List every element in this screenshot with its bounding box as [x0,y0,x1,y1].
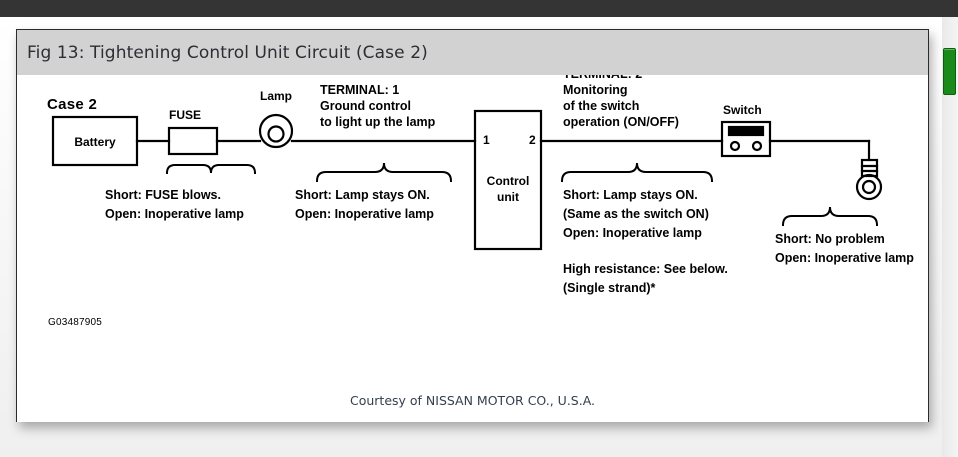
terminal2-line4: operation (ON/OFF) [563,115,679,130]
terminal1-line2: Ground control [320,99,411,114]
figure-body: Battery Control unit Case 2 FUSE Lamp 1 … [17,75,928,422]
battery-label: Battery [74,135,116,149]
brace-lamp [317,163,451,181]
fuse-note-line2: Open: Inoperative lamp [105,207,244,222]
switch-note-line1: Short: Lamp stays ON. [563,188,698,203]
fuse-symbol [169,128,217,154]
figure-image-id: G03487905 [48,315,102,330]
terminal2-line3: of the switch [563,99,639,114]
browser-top-bar [0,0,958,17]
resistance-note-line1: High resistance: See below. [563,262,728,277]
lamp-label: Lamp [260,89,292,104]
figure-panel: Fig 13: Tightening Control Unit Circuit … [16,29,929,422]
ground-note-line2: Open: Inoperative lamp [775,251,914,266]
switch-label: Switch [723,103,762,118]
terminal2-line2: Monitoring [563,83,628,98]
control-unit-terminal-1-label: 1 [483,133,490,148]
vertical-scrollbar-track[interactable] [942,17,958,457]
control-unit-terminal-2-label: 2 [529,133,536,148]
terminal1-line3: to light up the lamp [320,115,435,130]
fuse-label: FUSE [169,108,201,123]
lamp-note-line1: Short: Lamp stays ON. [295,188,430,203]
terminal1-heading: TERMINAL: 1 [320,83,399,98]
figure-courtesy-footer: Courtesy of NISSAN MOTOR CO., U.S.A. [17,393,928,408]
switch-note-line3: Open: Inoperative lamp [563,226,702,241]
circuit-schematic-svg: Battery Control unit [17,75,928,385]
ground-symbol [862,160,877,176]
lamp-note-line2: Open: Inoperative lamp [295,207,434,222]
figure-titlebar: Fig 13: Tightening Control Unit Circuit … [17,30,928,75]
ground-note-line1: Short: No problem [775,232,885,247]
fuse-note-line1: Short: FUSE blows. [105,188,221,203]
control-unit-label-line2: unit [497,190,519,204]
resistance-note-line2: (Single strand)* [563,281,655,296]
brace-switch [562,163,712,181]
brace-ground [783,207,877,225]
terminal2-heading: TERMINAL: 2 [563,75,642,82]
switch-note-line2: (Same as the switch ON) [563,207,709,222]
brace-fuse [167,165,255,173]
case-heading: Case 2 [47,97,97,112]
control-unit-label-line1: Control [487,174,530,188]
vertical-scrollbar-thumb[interactable] [943,48,956,95]
page-title: Fig 13: Tightening Control Unit Circuit … [27,43,428,63]
circuit-diagram: Battery Control unit Case 2 FUSE Lamp 1 … [17,75,928,385]
